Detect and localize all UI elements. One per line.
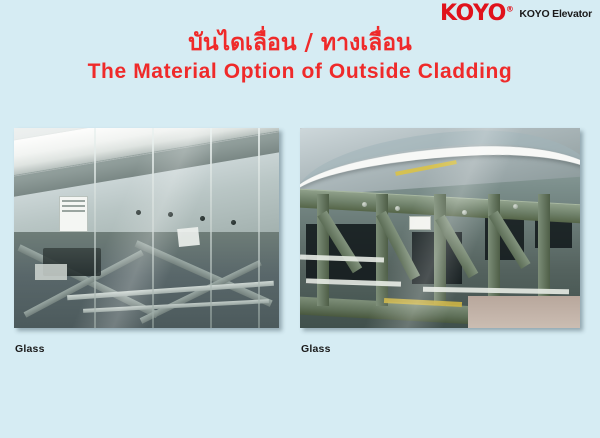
registered-trademark-icon: ®	[506, 5, 514, 14]
glass-mullion	[152, 128, 154, 328]
glass-mullion	[258, 128, 260, 328]
photo-right-content	[300, 128, 580, 328]
glass-fixing-bolt	[168, 212, 173, 217]
paper-label	[59, 196, 88, 232]
glass-fixing-bolt	[362, 202, 367, 207]
koyo-logo-text: KOYO	[440, 1, 506, 26]
presentation-slide: KOYO® KOYO Elevator บันไดเลื่อน / ทางเลื…	[0, 0, 600, 438]
photo-right-glass-cladding	[300, 128, 580, 328]
page-title-thai: บันไดเลื่อน / ทางเลื่อน	[0, 30, 600, 56]
glass-mullion	[210, 128, 212, 328]
brand-header: KOYO® KOYO Elevator	[440, 3, 592, 25]
white-component	[177, 227, 200, 247]
photo-left-glass-cladding	[14, 128, 279, 328]
company-name: KOYO Elevator	[519, 9, 592, 20]
photo-left-caption: Glass	[15, 343, 45, 355]
koyo-logo: KOYO®	[440, 3, 513, 25]
glass-fixing-bolt	[513, 204, 518, 209]
glass-fixing-bolt	[200, 216, 205, 221]
glass-fixing-bolt	[136, 210, 141, 215]
glass-mullion	[94, 128, 96, 328]
machine-unit-light	[35, 264, 67, 280]
paper-label	[409, 216, 431, 230]
page-title-english: The Material Option of Outside Cladding	[0, 60, 600, 84]
photo-right-caption: Glass	[301, 343, 331, 355]
workshop-floor	[468, 296, 580, 328]
photo-left-content	[14, 128, 279, 328]
title-block: บันไดเลื่อน / ทางเลื่อน The Material Opt…	[0, 30, 600, 85]
